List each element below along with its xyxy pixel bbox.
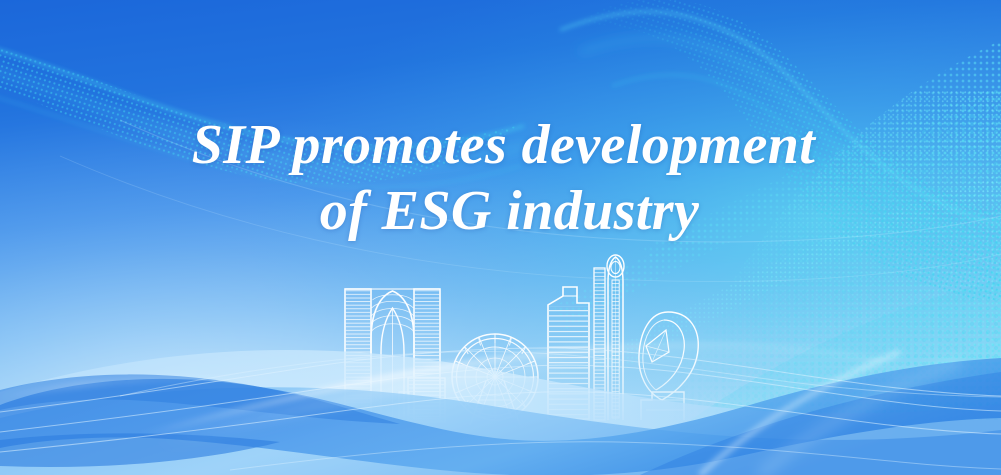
foreground-wave-ribbons — [0, 0, 1001, 475]
sip-esg-hero-banner: SIP promotes development of ESG industry — [0, 0, 1001, 475]
